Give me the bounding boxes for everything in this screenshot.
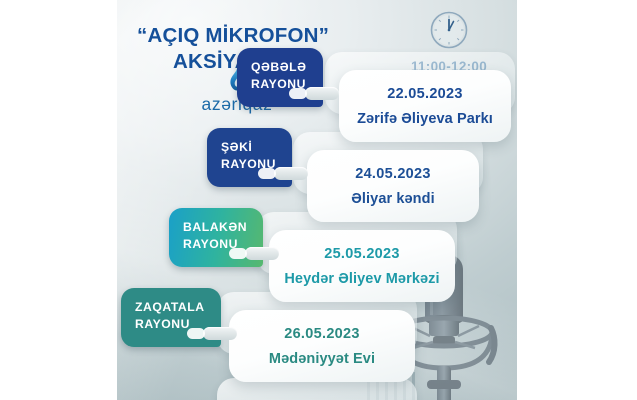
headline-line-1: “AÇIQ MİKROFON” (137, 24, 329, 47)
event-place: Heydər Əliyev Mərkəzi (284, 271, 439, 287)
event-date: 24.05.2023 (355, 166, 431, 182)
event-date: 22.05.2023 (387, 86, 463, 102)
clock-icon (429, 10, 469, 50)
poster-image: “AÇIQ MİKROFON” AKSİYASI azəriqaz (117, 0, 517, 400)
district-badge: QƏBƏLƏ RAYONU (237, 48, 323, 107)
left-gutter (0, 0, 117, 400)
district-badge: ZAQATALA RAYONU (121, 288, 221, 347)
badge-connector-knob (305, 87, 339, 100)
event-card: 24.05.2023 Əliyar kəndi (307, 150, 479, 222)
event-date: 26.05.2023 (284, 326, 360, 342)
event-place: Əliyar kəndi (351, 191, 434, 207)
badge-connector-knob (274, 167, 308, 180)
event-card: 22.05.2023 Zərifə Əliyeva Parkı (339, 70, 511, 142)
event-date: 25.05.2023 (324, 246, 400, 262)
event-place: Zərifə Əliyeva Parkı (357, 111, 493, 127)
event-card: 26.05.2023 Mədəniyyət Evi (229, 310, 415, 382)
district-badge: ŞƏKİ RAYONU (207, 128, 292, 187)
screenshot-root: “AÇIQ MİKROFON” AKSİYASI azəriqaz (0, 0, 637, 400)
district-name-line1: ZAQATALA (135, 299, 205, 316)
event-place: Mədəniyyət Evi (269, 351, 375, 367)
badge-connector-knob (245, 247, 279, 260)
district-name-line1: ŞƏKİ (221, 139, 276, 156)
district-name-line1: BALAKƏN (183, 219, 247, 236)
right-gutter (517, 0, 637, 400)
badge-connector-knob (203, 327, 237, 340)
district-name-line1: QƏBƏLƏ (251, 59, 307, 76)
event-card: 25.05.2023 Heydər Əliyev Mərkəzi (269, 230, 455, 302)
district-badge: BALAKƏN RAYONU (169, 208, 263, 267)
